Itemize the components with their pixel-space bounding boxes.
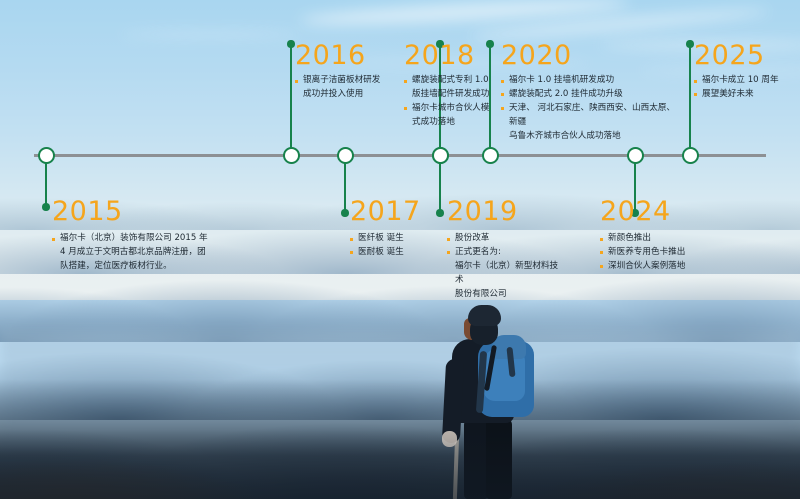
bullet-item: 银离子洁菌板材研发 成功并投入使用 — [295, 74, 400, 102]
entry-2016[interactable]: 2016银离子洁菌板材研发 成功并投入使用 — [295, 42, 400, 102]
bullet-list-2024: 新颜色推出新医养专用色卡推出深圳合伙人案例落地 — [600, 232, 740, 274]
stem-end-dot — [341, 209, 348, 216]
bullet-item: 新颜色推出 — [600, 232, 740, 246]
entry-2015[interactable]: 2015福尔卡（北京）装饰有限公司 2015 年 4 月成立于文明古都北京品牌注… — [52, 198, 227, 274]
timeline-node-2024[interactable] — [627, 147, 644, 164]
bullet-item: 医纤板 诞生 — [350, 232, 440, 246]
bullet-item: 新医养专用色卡推出 — [600, 246, 740, 260]
timeline-node-2015[interactable] — [38, 147, 55, 164]
stem-end-dot — [686, 40, 693, 47]
entry-2020[interactable]: 2020福尔卡 1.0 挂墙机研发成功螺旋装配式 2.0 挂件成功升级天津、 河… — [501, 42, 676, 144]
timeline-node-2017[interactable] — [337, 147, 354, 164]
bullet-item: 螺旋装配式 2.0 挂件成功升级 — [501, 88, 676, 102]
year-label-2018: 2018 — [404, 42, 509, 69]
bullet-list-2018: 螺旋装配式专利 1.0 版挂墙配件研发成功福尔卡城市合伙人模 式成功落地 — [404, 74, 509, 130]
entry-2025[interactable]: 2025福尔卡成立 10 周年展望美好未来 — [694, 42, 794, 102]
timeline-stem-2025 — [689, 44, 691, 154]
bullet-list-2017: 医纤板 诞生医耐板 诞生 — [350, 232, 440, 260]
bullet-item: 展望美好未来 — [694, 88, 794, 102]
bullet-item: 福尔卡成立 10 周年 — [694, 74, 794, 88]
bullet-list-2016: 银离子洁菌板材研发 成功并投入使用 — [295, 74, 400, 102]
timeline-node-2016[interactable] — [283, 147, 300, 164]
entry-2017[interactable]: 2017医纤板 诞生医耐板 诞生 — [350, 198, 440, 260]
bullet-item: 深圳合伙人案例落地 — [600, 260, 740, 274]
bullet-item: 福尔卡（北京）装饰有限公司 2015 年 4 月成立于文明古都北京品牌注册，团 … — [52, 232, 227, 274]
bullet-item: 福尔卡城市合伙人模 式成功落地 — [404, 102, 509, 130]
bullet-list-2015: 福尔卡（北京）装饰有限公司 2015 年 4 月成立于文明古都北京品牌注册，团 … — [52, 232, 227, 274]
year-label-2024: 2024 — [600, 198, 740, 225]
stem-end-dot — [42, 203, 49, 210]
hiker-hat — [468, 305, 501, 326]
timeline-axis — [34, 154, 766, 157]
year-label-2020: 2020 — [501, 42, 676, 69]
bullet-item: 天津、 河北石家庄、陕西西安、山西太原、新疆 乌鲁木齐城市合伙人成功落地 — [501, 102, 676, 144]
entry-2019[interactable]: 2019股份改革正式更名为: 福尔卡（北京）新型材料技术 股份有限公司 — [447, 198, 565, 302]
timeline-node-2019[interactable] — [432, 147, 449, 164]
year-label-2017: 2017 — [350, 198, 440, 225]
year-label-2019: 2019 — [447, 198, 565, 225]
year-label-2016: 2016 — [295, 42, 400, 69]
timeline-node-2025[interactable] — [682, 147, 699, 164]
bullet-list-2025: 福尔卡成立 10 周年展望美好未来 — [694, 74, 794, 102]
bullet-item: 正式更名为: 福尔卡（北京）新型材料技术 股份有限公司 — [447, 246, 565, 302]
bottom-vignette — [0, 429, 800, 499]
year-label-2015: 2015 — [52, 198, 227, 225]
cloud — [120, 30, 300, 39]
entry-2024[interactable]: 2024新颜色推出新医养专用色卡推出深圳合伙人案例落地 — [600, 198, 740, 274]
bullet-item: 福尔卡 1.0 挂墙机研发成功 — [501, 74, 676, 88]
entry-2018[interactable]: 2018螺旋装配式专利 1.0 版挂墙配件研发成功福尔卡城市合伙人模 式成功落地 — [404, 42, 509, 130]
bullet-list-2019: 股份改革正式更名为: 福尔卡（北京）新型材料技术 股份有限公司 — [447, 232, 565, 302]
timeline-node-2020[interactable] — [482, 147, 499, 164]
year-label-2025: 2025 — [694, 42, 794, 69]
bullet-item: 医耐板 诞生 — [350, 246, 440, 260]
timeline-stem-2016 — [290, 44, 292, 154]
bullet-list-2020: 福尔卡 1.0 挂墙机研发成功螺旋装配式 2.0 挂件成功升级天津、 河北石家庄… — [501, 74, 676, 144]
bullet-item: 螺旋装配式专利 1.0 版挂墙配件研发成功 — [404, 74, 509, 102]
timeline-infographic: 2015福尔卡（北京）装饰有限公司 2015 年 4 月成立于文明古都北京品牌注… — [0, 0, 800, 499]
bullet-item: 股份改革 — [447, 232, 565, 246]
stem-end-dot — [287, 40, 294, 47]
